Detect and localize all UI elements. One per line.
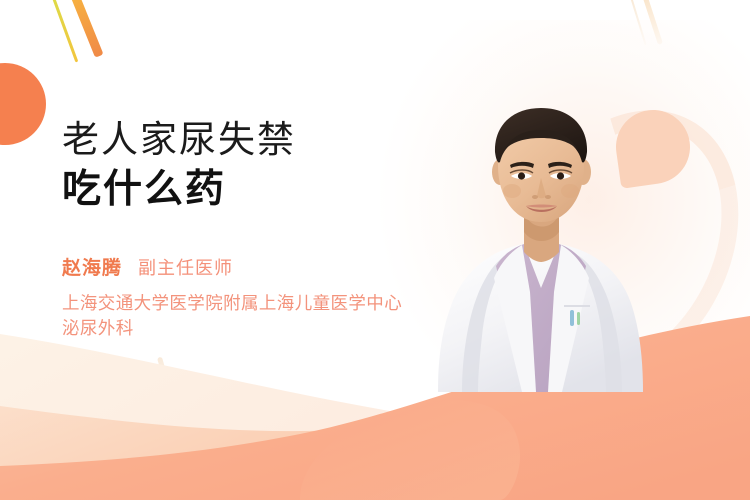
poster-canvas: 老人家尿失禁 吃什么药 赵海腾 副主任医师 上海交通大学医学院附属上海儿童医学中…: [0, 0, 750, 500]
affiliation-line-2: 泌尿外科: [62, 316, 532, 341]
yellow-diagonal-stroke-decor: [44, 0, 78, 62]
doctor-affiliation: 上海交通大学医学院附属上海儿童医学中心 泌尿外科: [62, 291, 532, 341]
faint-diagonal-stroke-decor: [639, 0, 663, 45]
affiliation-line-1: 上海交通大学医学院附属上海儿童医学中心: [62, 291, 532, 316]
text-content-block: 老人家尿失禁 吃什么药 赵海腾 副主任医师 上海交通大学医学院附属上海儿童医学中…: [62, 118, 532, 341]
doctor-rank-title: 副主任医师: [138, 254, 233, 280]
doctor-name: 赵海腾: [62, 253, 122, 280]
faint-diagonal-stroke-decor: [157, 357, 173, 399]
orange-circle-decor: [0, 63, 46, 145]
faint-diagonal-stroke-decor: [626, 0, 647, 45]
headline-line-2: 吃什么药: [62, 166, 532, 214]
headline-line-1: 老人家尿失禁: [62, 118, 532, 162]
doctor-byline: 赵海腾 副主任医师: [62, 253, 532, 280]
orange-diagonal-stroke-decor: [63, 0, 104, 58]
